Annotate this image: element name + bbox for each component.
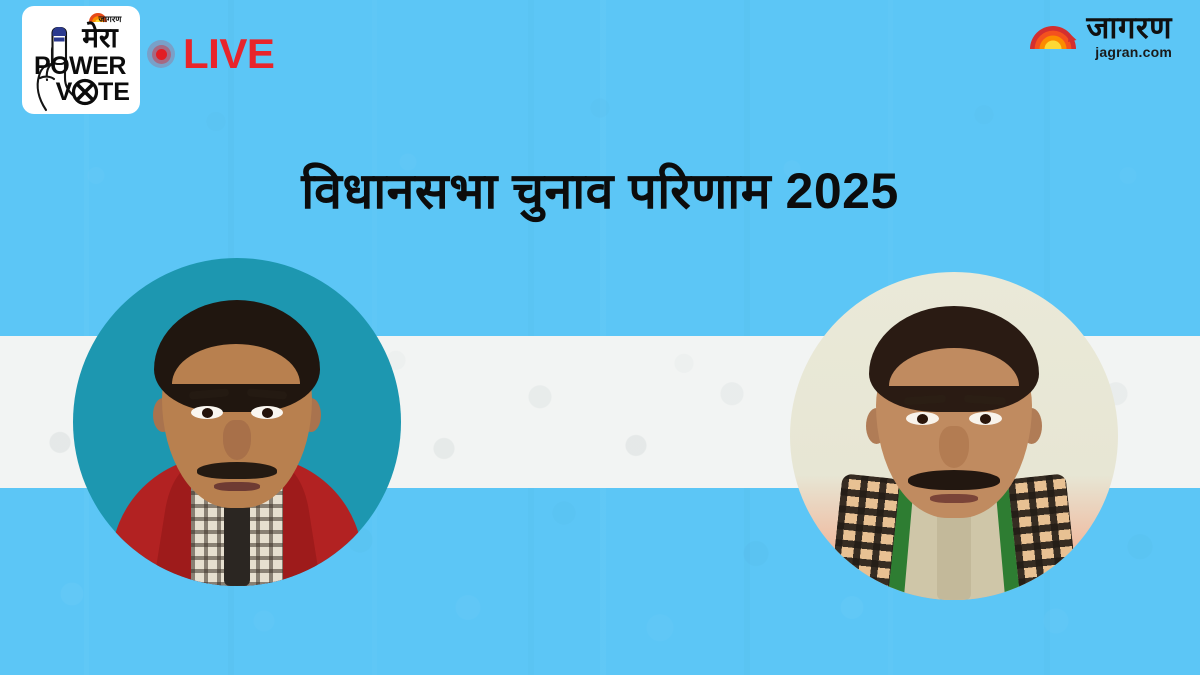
svg-text:TE: TE [98,78,130,106]
mera-power-vote-logo[interactable]: जागरण मेरा POWER V TE [22,6,140,114]
svg-text:मेरा: मेरा [81,21,119,53]
election-result-banner: जागरण मेरा POWER V TE LIVE [0,0,1200,675]
live-dot-icon [146,39,176,69]
live-label: LIVE [183,33,274,75]
svg-text:POWER: POWER [34,52,126,80]
mera-power-vote-logo-art: जागरण मेरा POWER V TE [22,6,140,114]
jagran-wordmark: जागरण jagran.com [1086,12,1172,60]
jagran-logo[interactable]: जागरण jagran.com [1029,12,1172,60]
jagran-title: जागरण [1086,12,1172,45]
live-badge[interactable]: LIVE [146,33,274,75]
candidate-photo-left [73,258,401,586]
jagran-url: jagran.com [1095,45,1172,60]
page-title: विधानसभा चुनाव परिणाम 2025 [0,163,1200,221]
candidate-figure-right [790,272,1118,600]
candidate-figure-left [73,258,401,586]
sunrise-icon [1029,21,1077,51]
svg-text:V: V [56,78,73,106]
candidate-photo-right [790,272,1118,600]
